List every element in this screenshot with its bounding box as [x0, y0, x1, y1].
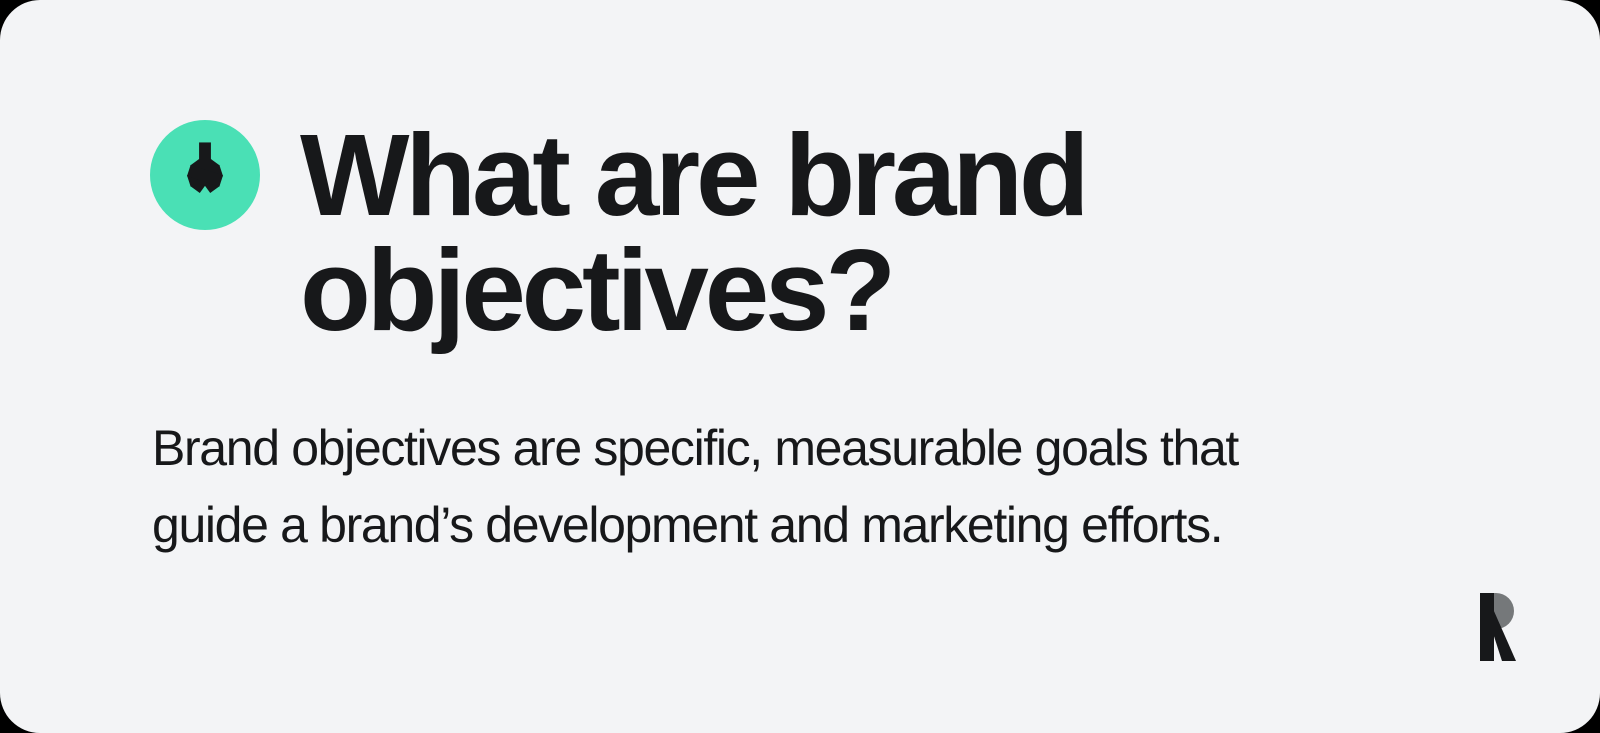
content-card: What are brand objectives? Brand objecti… [0, 0, 1600, 733]
brand-logo-r-icon [1466, 593, 1522, 661]
asterisk-icon [168, 138, 242, 212]
heading-row: What are brand objectives? [150, 118, 1350, 348]
body-paragraph: Brand objectives are specific, measurabl… [152, 410, 1352, 564]
asterisk-badge [150, 120, 260, 230]
page-title: What are brand objectives? [150, 118, 1150, 348]
brand-logo [1466, 593, 1522, 661]
